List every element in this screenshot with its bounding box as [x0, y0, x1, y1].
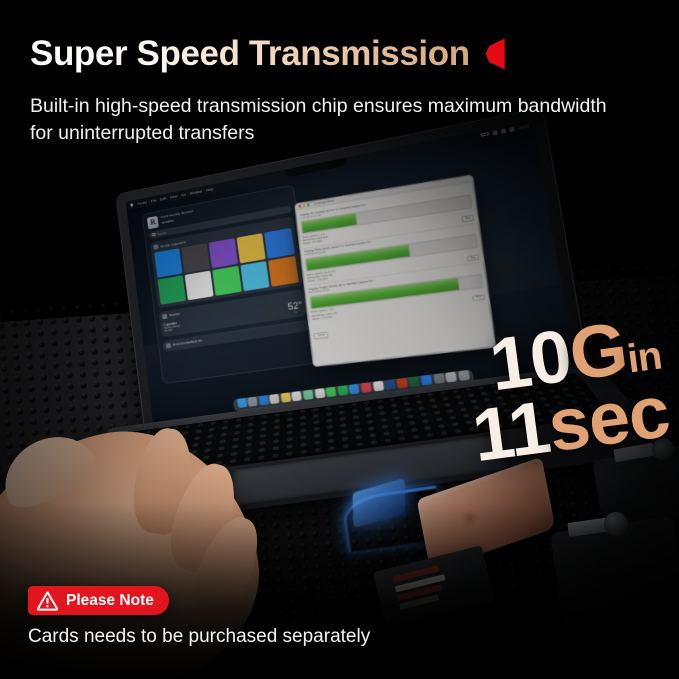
headline-row: Super Speed Transmission [30, 34, 505, 74]
warning-triangle-icon [36, 590, 59, 611]
note-text: Cards needs to be purchased separately [28, 626, 370, 648]
speed-unit-2: sec [544, 369, 674, 467]
subheadline: Built-in high-speed transmission chip en… [30, 93, 630, 147]
speed-callout: 10Gin 11sec [460, 310, 673, 471]
product-marketing-banner: Finder File Edit View Go Window Help 19:… [0, 0, 679, 679]
please-note-label: Please Note [66, 592, 154, 610]
page-title: Super Speed Transmission [30, 34, 470, 74]
please-note-badge: Please Note [28, 586, 169, 615]
red-left-arrow-marker-icon [486, 39, 505, 70]
speed-number-2: 11 [468, 385, 554, 477]
